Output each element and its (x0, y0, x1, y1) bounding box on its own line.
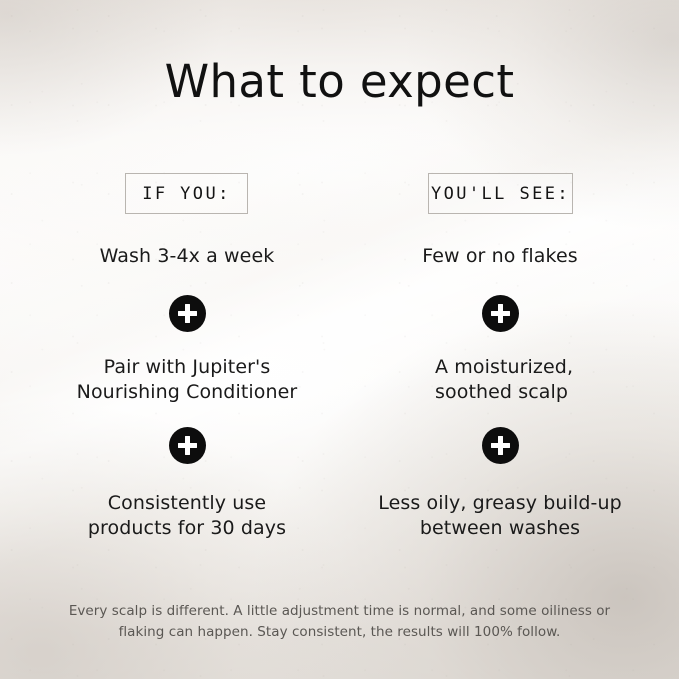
list-item: Less oily, greasy build-up between washe… (350, 491, 650, 541)
column-header-youll-see-label: YOU'LL SEE: (431, 184, 570, 204)
separator-row (350, 427, 650, 464)
separator-row (37, 427, 337, 464)
list-item-line: Consistently use (37, 491, 337, 516)
footer-disclaimer: Every scalp is different. A little adjus… (50, 601, 630, 643)
spacer (37, 269, 337, 295)
list-item-line: Nourishing Conditioner (37, 380, 337, 405)
list-item-line: soothed scalp (435, 380, 650, 405)
column-if-you: Wash 3-4x a week Pair with Jupiter's Nou… (37, 244, 337, 541)
list-item-line: between washes (350, 516, 650, 541)
list-item: Few or no flakes (350, 244, 650, 269)
content-layer: What to expect IF YOU: YOU'LL SEE: Wash … (0, 0, 679, 679)
plus-circle-icon (169, 295, 206, 332)
list-item: Wash 3-4x a week (37, 244, 337, 269)
spacer (350, 269, 650, 295)
page-title: What to expect (0, 55, 679, 109)
spacer (350, 332, 650, 355)
column-youll-see: Few or no flakes A moisturized, soothed … (350, 244, 650, 541)
list-item: A moisturized, soothed scalp (350, 355, 650, 405)
list-item: Consistently use products for 30 days (37, 491, 337, 541)
list-item-line: Wash 3-4x a week (37, 244, 337, 269)
footer-disclaimer-line: Every scalp is different. A little adjus… (50, 601, 630, 622)
separator-row (350, 295, 650, 332)
spacer (37, 405, 337, 427)
list-item-line: products for 30 days (37, 516, 337, 541)
plus-circle-icon (169, 427, 206, 464)
list-item-line: A moisturized, (435, 355, 650, 380)
plus-circle-icon (482, 295, 519, 332)
list-item-line: Few or no flakes (350, 244, 650, 269)
spacer (37, 464, 337, 491)
spacer (37, 332, 337, 355)
footer-disclaimer-line: flaking can happen. Stay consistent, the… (50, 622, 630, 643)
list-item-line: Pair with Jupiter's (37, 355, 337, 380)
spacer (350, 405, 650, 427)
column-header-if-you: IF YOU: (125, 173, 248, 214)
promo-canvas: What to expect IF YOU: YOU'LL SEE: Wash … (0, 0, 679, 679)
list-item-line: Less oily, greasy build-up (350, 491, 650, 516)
spacer (350, 464, 650, 491)
plus-circle-icon (482, 427, 519, 464)
column-header-youll-see: YOU'LL SEE: (428, 173, 573, 214)
list-item: Pair with Jupiter's Nourishing Condition… (37, 355, 337, 405)
separator-row (37, 295, 337, 332)
column-header-if-you-label: IF YOU: (142, 184, 230, 204)
